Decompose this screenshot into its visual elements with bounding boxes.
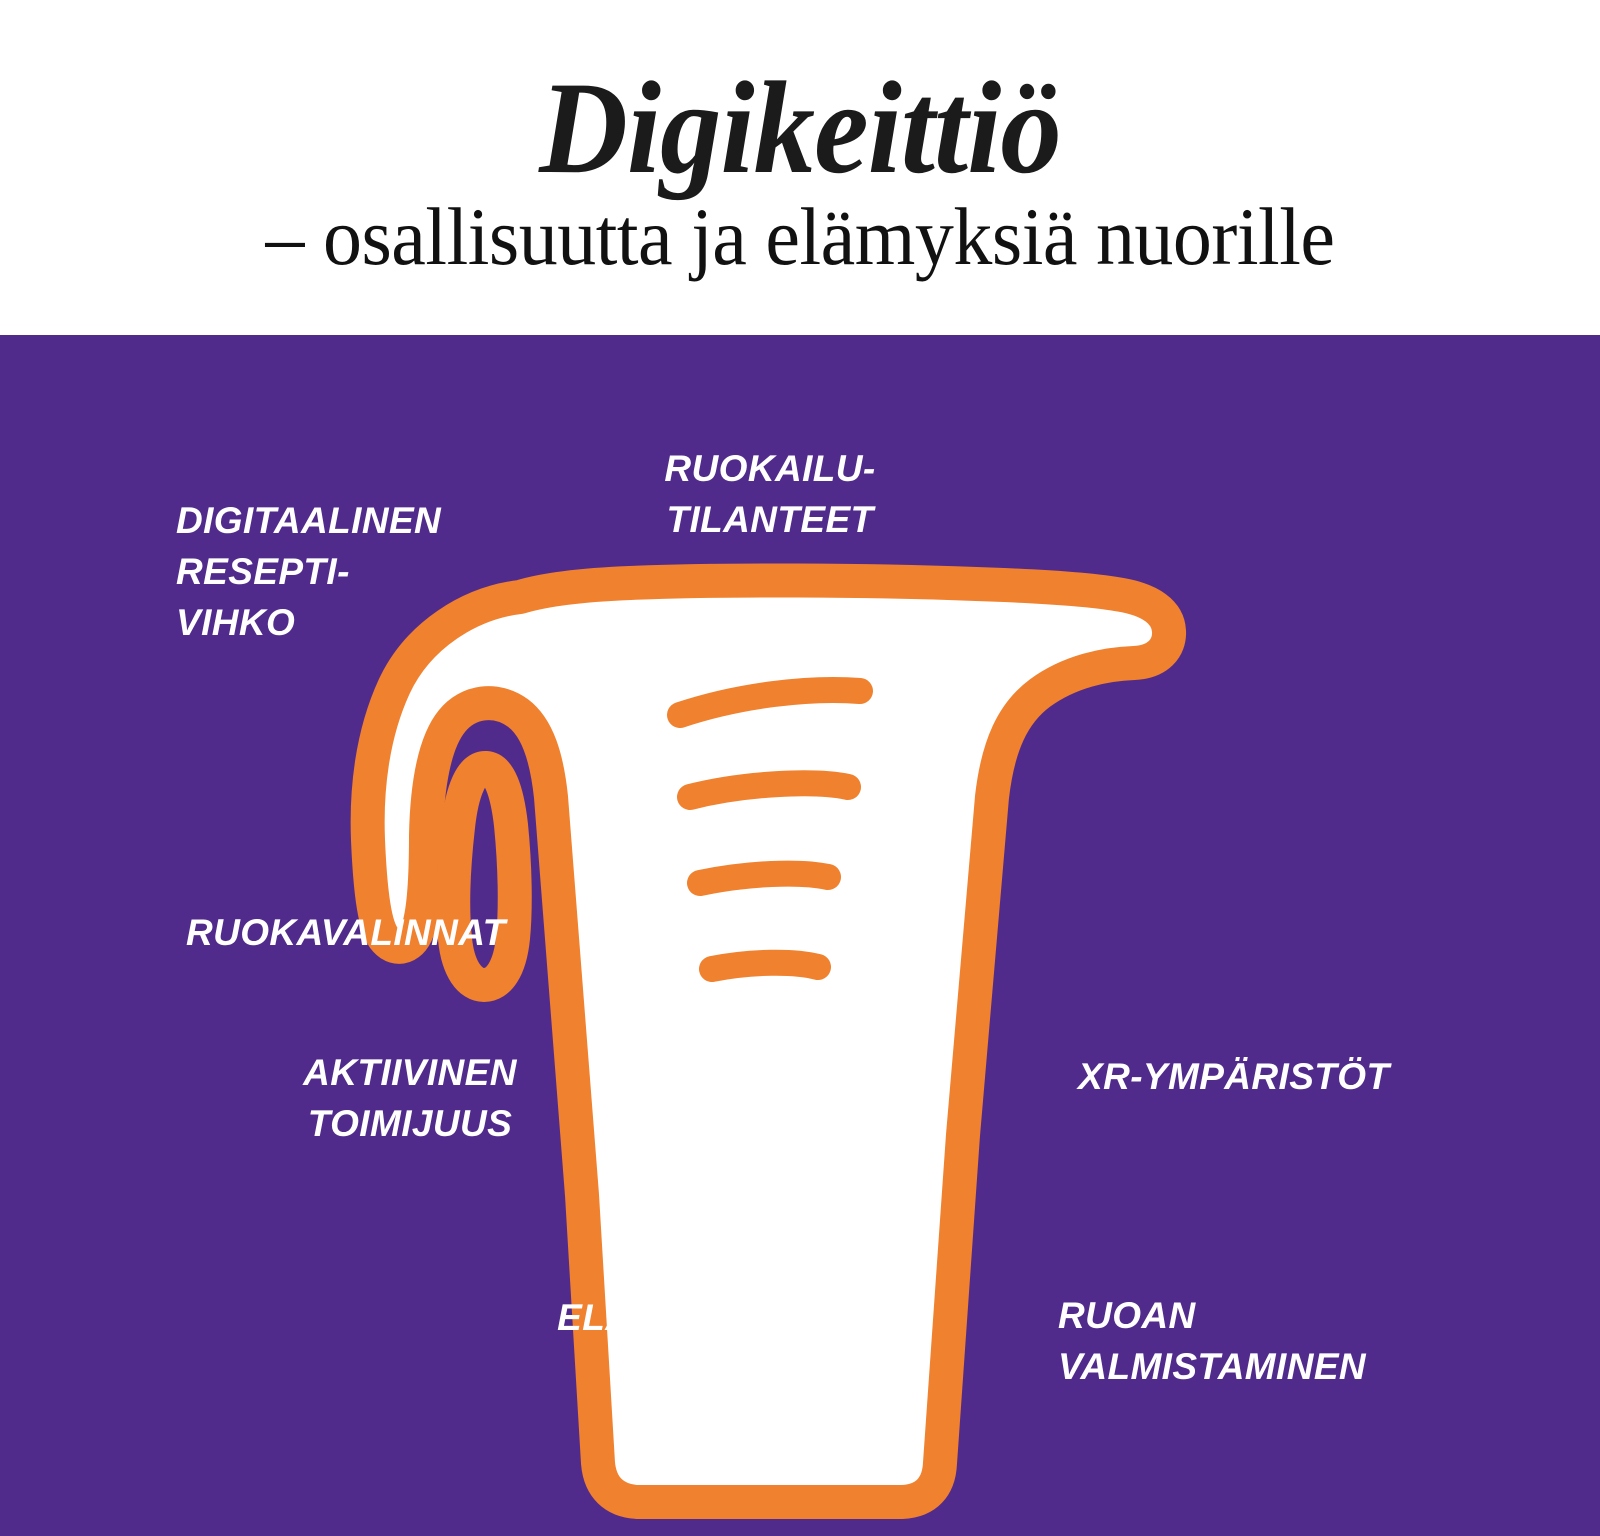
label-ruoan-valmistaminen: RUOAN VALMISTAMINEN (1058, 1290, 1498, 1392)
measurement-mark-2 (690, 783, 848, 797)
label-ruokailun-elamyksellisyys: RUOKAILUN ELÄMYKSELLISYYS (525, 1241, 955, 1343)
label-xr-ymparistot: XR-YMPÄRISTÖT (1078, 1051, 1508, 1102)
header-band: Digikeittiö – osallisuutta ja elämyksiä … (0, 0, 1600, 335)
label-digitaalinen-reseptivihko: DIGITAALINEN RESEPTI- VIHKO (176, 495, 606, 648)
page-title: Digikeittiö (56, 62, 1544, 194)
poster-root: Digikeittiö – osallisuutta ja elämyksiä … (0, 0, 1600, 1536)
jug-body (368, 580, 1169, 1502)
label-aktiivinen-toimijuus: AKTIIVINEN TOIMIJUUS (255, 1047, 565, 1149)
label-ruokavalinnat: RUOKAVALINNAT (186, 907, 606, 958)
illustration-canvas: DIGITAALINEN RESEPTI- VIHKO RUOKAILU- TI… (0, 335, 1600, 1536)
label-ruokailutilanteet: RUOKAILU- TILANTEET (575, 443, 965, 545)
page-subtitle: – osallisuutta ja elämyksiä nuorille (40, 196, 1560, 278)
measurement-mark-4 (712, 963, 818, 969)
measurement-mark-3 (700, 874, 828, 883)
